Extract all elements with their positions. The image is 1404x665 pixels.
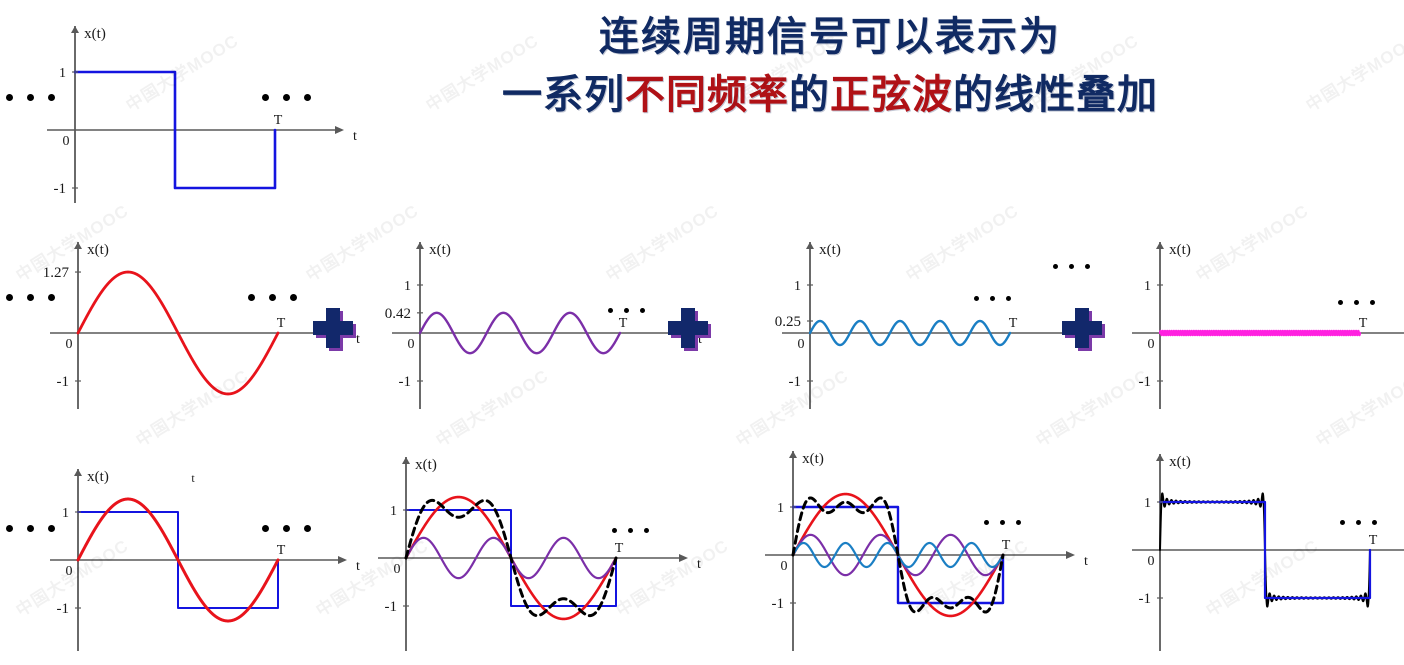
title-run-2: 的	[789, 71, 830, 118]
ellipsis-dots	[974, 296, 1011, 301]
ellipsis-dots	[1340, 520, 1377, 525]
ellipsis-dot	[1356, 520, 1361, 525]
chart-panel-sum-2: x(t)t10-1T	[368, 443, 668, 655]
y-tick-0: 0	[63, 134, 70, 149]
y-axis-label: x(t)	[429, 242, 451, 258]
ellipsis-dot	[628, 528, 633, 533]
y-tick-1: 1	[59, 66, 66, 81]
ellipsis-dots	[1053, 264, 1090, 269]
watermark-text: 中国大学MOOC	[1300, 27, 1404, 117]
ellipsis-dot	[304, 525, 311, 532]
y-tick--1: -1	[57, 374, 70, 390]
ellipsis-dot	[974, 296, 979, 301]
ellipsis-dots	[248, 294, 297, 301]
y-tick--1: -1	[772, 596, 785, 612]
x-tick-T: T	[1002, 538, 1011, 553]
y-tick--1: -1	[385, 599, 398, 615]
chart-panel-sum-final: x(t)t10-1T	[1128, 440, 1404, 655]
title-run-3: 正弦波	[830, 71, 953, 118]
ellipsis-dot	[248, 294, 255, 301]
chart-panel-harmonic-3: x(t)t10.420-1T	[368, 228, 668, 413]
y-axis-label: x(t)	[1169, 242, 1191, 258]
x-tick-T: T	[615, 541, 624, 556]
ellipsis-dot	[984, 520, 989, 525]
ellipsis-dot	[1340, 520, 1345, 525]
title-run-0: 一系列	[502, 71, 625, 118]
x-tick-T: T	[1359, 316, 1368, 331]
ellipsis-dot	[612, 528, 617, 533]
ellipsis-dot	[1053, 264, 1058, 269]
title-line-1: 连续周期信号可以表示为	[430, 8, 1230, 66]
y-tick-1: 1	[390, 504, 397, 519]
plus-operator-icon	[1062, 308, 1102, 348]
ellipsis-dot	[290, 294, 297, 301]
ellipsis-dot	[1370, 300, 1375, 305]
plus-glyph	[1062, 308, 1102, 348]
ellipsis-dots	[6, 525, 55, 532]
ellipsis-dot	[6, 294, 13, 301]
plus-operator-icon	[313, 308, 353, 348]
plus-operator-icon	[668, 308, 708, 348]
chart-panel-square-wave-original: x(t)t10-1T	[20, 12, 310, 207]
ellipsis-dot	[6, 94, 13, 101]
x-axis-label: t	[356, 332, 360, 347]
y-tick--1: -1	[54, 181, 67, 197]
ellipsis-dot	[304, 94, 311, 101]
axes	[392, 242, 689, 409]
ellipsis-dot	[644, 528, 649, 533]
x-axis-label: t	[697, 557, 701, 572]
ellipsis-dot	[283, 525, 290, 532]
y-tick-0: 0	[394, 562, 401, 577]
y-axis-label: x(t)	[819, 242, 841, 258]
ellipsis-dots	[262, 525, 311, 532]
ellipsis-dots	[1338, 300, 1375, 305]
plus-glyph	[313, 308, 353, 348]
y-axis-label: x(t)	[802, 451, 824, 467]
ellipsis-dots	[6, 94, 55, 101]
ellipsis-dots	[984, 520, 1021, 525]
ellipsis-dot	[1372, 520, 1377, 525]
ellipsis-dot	[1016, 520, 1021, 525]
y-tick-1: 1	[62, 506, 69, 521]
stray-t-label: t	[191, 471, 195, 485]
ellipsis-dot	[1354, 300, 1359, 305]
ellipsis-dot	[6, 525, 13, 532]
ellipsis-dot	[1069, 264, 1074, 269]
y-tick-1: 1	[777, 501, 784, 516]
y-tick-1: 1	[1144, 279, 1151, 294]
title-line-2: 一系列不同频率的正弦波的线性叠加	[430, 66, 1230, 124]
y-axis-label: x(t)	[1169, 454, 1191, 470]
x-tick-T: T	[277, 316, 286, 331]
y-tick-0.25: 0.25	[775, 314, 801, 330]
axes	[378, 457, 688, 651]
x-axis-label: t	[1084, 554, 1088, 569]
y-tick--1: -1	[1139, 374, 1152, 390]
y-axis-label: x(t)	[87, 469, 109, 485]
ellipsis-dots	[6, 294, 55, 301]
chart-panel-harmonic-high: x(t)t10-1T	[1128, 228, 1404, 413]
chart-panel-harmonic-1: x(t)t1.270-1T	[18, 228, 318, 413]
ellipsis-dot	[27, 525, 34, 532]
title-run-4: 的线性叠加	[953, 71, 1158, 118]
x-tick-T: T	[277, 543, 286, 558]
ellipsis-dot	[27, 94, 34, 101]
x-tick-T: T	[1009, 316, 1018, 331]
y-tick--1: -1	[789, 374, 802, 390]
slide-title: 连续周期信号可以表示为 一系列不同频率的正弦波的线性叠加	[430, 8, 1230, 124]
ellipsis-dot	[48, 525, 55, 532]
ellipsis-dot	[1000, 520, 1005, 525]
ellipsis-dot	[608, 308, 613, 313]
ellipsis-dot	[624, 308, 629, 313]
y-tick-0: 0	[1148, 554, 1155, 569]
y-tick-1: 1	[1144, 496, 1151, 511]
y-tick-0: 0	[66, 564, 73, 579]
ellipsis-dots	[262, 94, 311, 101]
axes	[47, 26, 344, 203]
chart-panel-sum-3: x(t)t10-1T	[758, 437, 1058, 655]
y-tick-0: 0	[781, 559, 788, 574]
y-axis-label: x(t)	[84, 26, 106, 42]
y-tick-1.27: 1.27	[43, 265, 70, 281]
chart-panel-harmonic-5: x(t)t10.250-1T	[758, 228, 1058, 413]
ellipsis-dot	[1006, 296, 1011, 301]
y-tick-1: 1	[404, 279, 411, 294]
x-axis-label: t	[353, 129, 357, 144]
plus-glyph	[668, 308, 708, 348]
y-tick-0: 0	[66, 337, 73, 352]
y-tick-0: 0	[408, 337, 415, 352]
ellipsis-dot	[262, 94, 269, 101]
y-tick--1: -1	[1139, 591, 1152, 607]
axes	[1132, 454, 1404, 651]
series-high-harmonic	[1160, 331, 1360, 335]
ellipsis-dots	[608, 308, 645, 313]
ellipsis-dot	[1085, 264, 1090, 269]
ellipsis-dot	[1338, 300, 1343, 305]
ellipsis-dot	[283, 94, 290, 101]
axes	[50, 242, 347, 409]
chart-panel-sum-1: x(t)t10-1Tt	[18, 455, 318, 655]
x-tick-T: T	[1369, 533, 1378, 548]
ellipsis-dots	[612, 528, 649, 533]
y-tick--1: -1	[57, 601, 70, 617]
y-tick--1: -1	[399, 374, 412, 390]
axes	[50, 469, 347, 651]
title-run-1: 不同频率	[625, 71, 789, 118]
x-tick-T: T	[619, 316, 628, 331]
y-tick-0.42: 0.42	[385, 306, 411, 322]
ellipsis-dot	[27, 294, 34, 301]
ellipsis-dot	[269, 294, 276, 301]
y-tick-1: 1	[794, 279, 801, 294]
y-axis-label: x(t)	[87, 242, 109, 258]
ellipsis-dot	[48, 94, 55, 101]
y-tick-0: 0	[1148, 337, 1155, 352]
ellipsis-dot	[262, 525, 269, 532]
ellipsis-dot	[990, 296, 995, 301]
x-axis-label: t	[356, 559, 360, 574]
y-tick-0: 0	[798, 337, 805, 352]
x-tick-T: T	[274, 113, 283, 128]
ellipsis-dot	[48, 294, 55, 301]
ellipsis-dot	[640, 308, 645, 313]
y-axis-label: x(t)	[415, 457, 437, 473]
